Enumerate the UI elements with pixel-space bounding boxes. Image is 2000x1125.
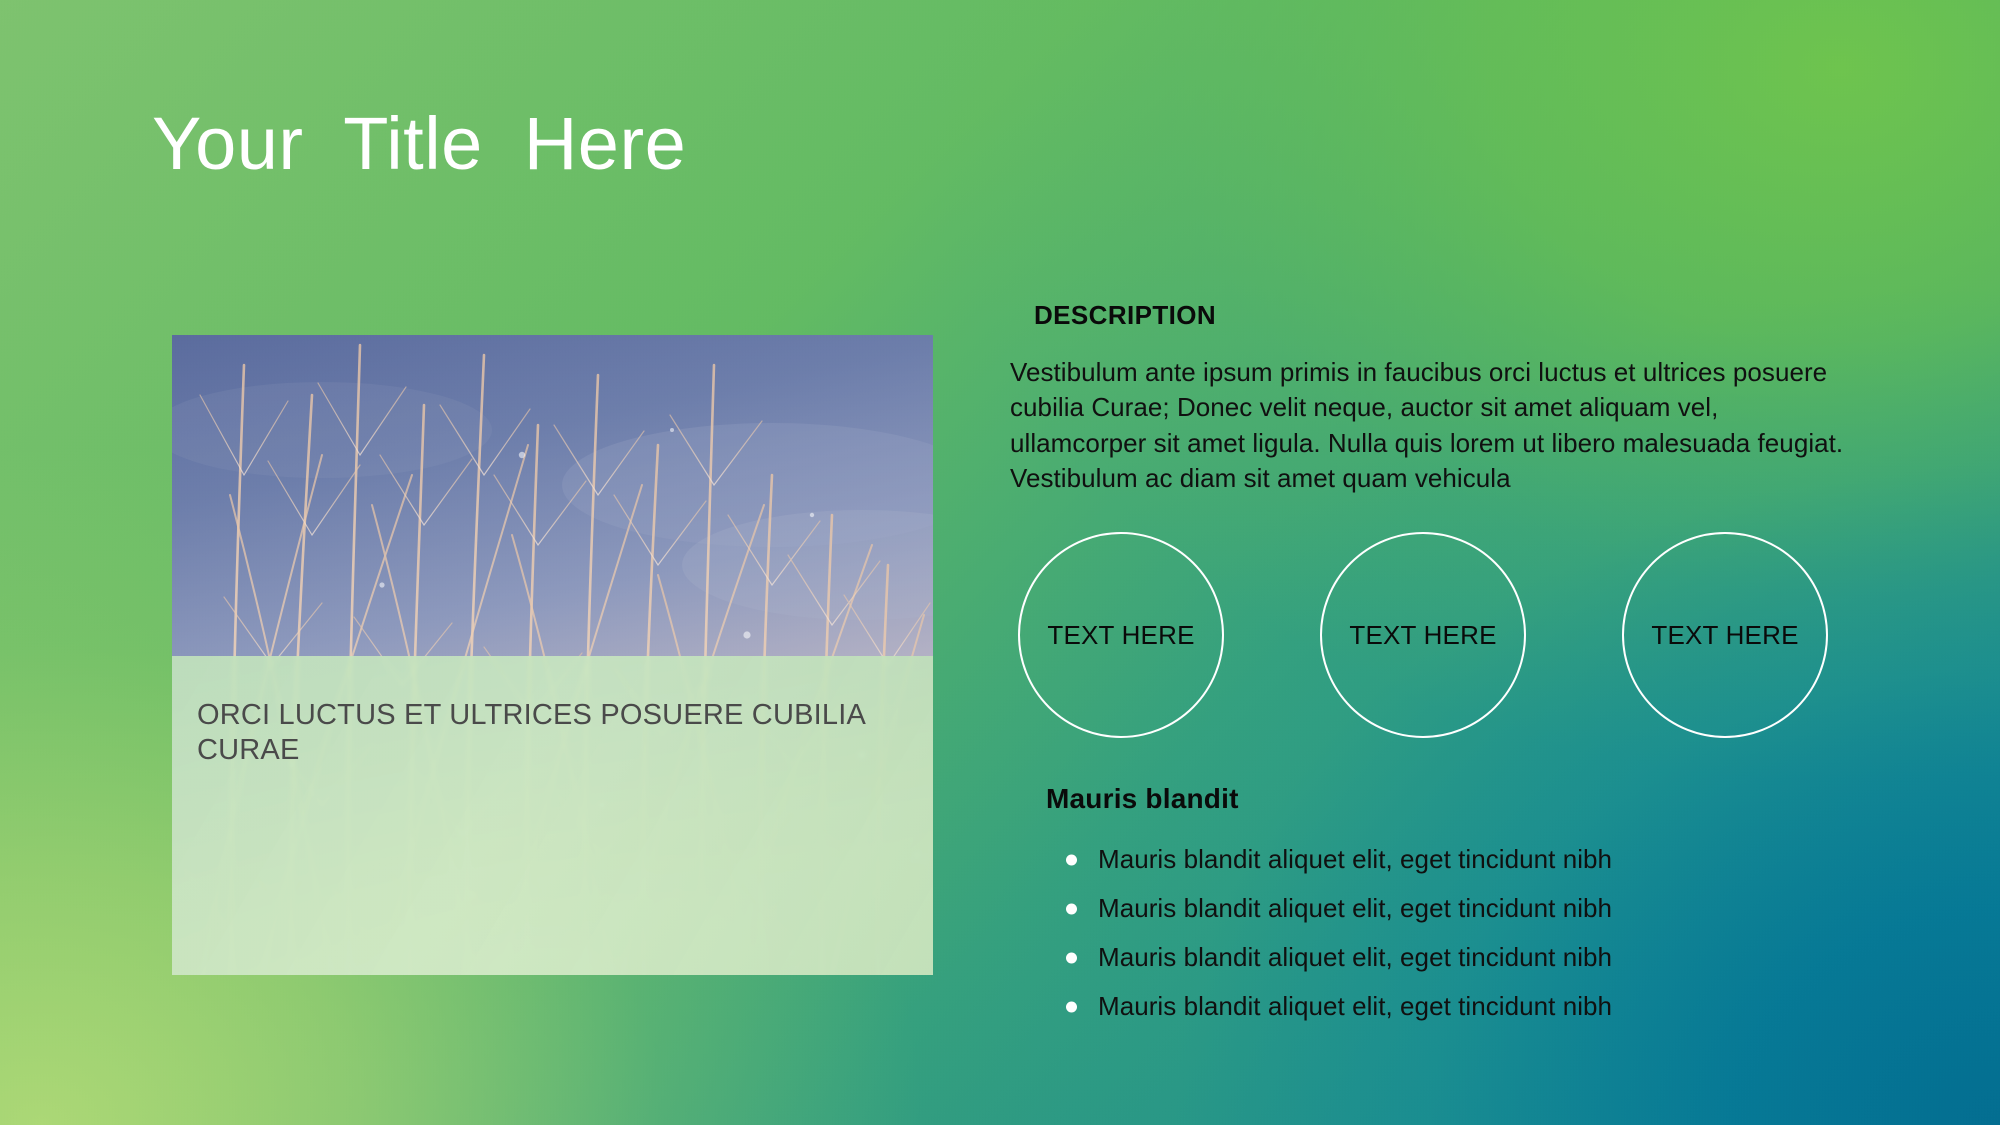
list-item: Mauris blandit aliquet elit, eget tincid…: [1046, 835, 1836, 884]
bullet-dot-icon: [1066, 1001, 1077, 1012]
list-item: Mauris blandit aliquet elit, eget tincid…: [1046, 884, 1836, 933]
list-item: Mauris blandit aliquet elit, eget tincid…: [1046, 982, 1836, 1031]
list-item: Mauris blandit aliquet elit, eget tincid…: [1046, 933, 1836, 982]
bullet-dot-icon: [1066, 854, 1077, 865]
circle-badge-row: TEXT HERE TEXT HERE TEXT HERE: [1018, 532, 1848, 740]
picture-card: ORCI LUCTUS ET ULTRICES POSUERE CUBILIA …: [172, 335, 933, 975]
circle-badge-1-label: TEXT HERE: [1047, 620, 1194, 651]
circle-badge-3[interactable]: TEXT HERE: [1622, 532, 1828, 738]
description-body: Vestibulum ante ipsum primis in faucibus…: [1010, 355, 1850, 496]
list-item-label: Mauris blandit aliquet elit, eget tincid…: [1098, 942, 1612, 973]
bullet-dot-icon: [1066, 903, 1077, 914]
list-item-label: Mauris blandit aliquet elit, eget tincid…: [1098, 844, 1612, 875]
circle-badge-3-label: TEXT HERE: [1651, 620, 1798, 651]
circle-badge-2-label: TEXT HERE: [1349, 620, 1496, 651]
picture-caption-box: ORCI LUCTUS ET ULTRICES POSUERE CUBILIA …: [172, 656, 933, 975]
picture-caption-text: ORCI LUCTUS ET ULTRICES POSUERE CUBILIA …: [197, 698, 897, 769]
list-item-label: Mauris blandit aliquet elit, eget tincid…: [1098, 991, 1612, 1022]
list-item-label: Mauris blandit aliquet elit, eget tincid…: [1098, 893, 1612, 924]
page-title: Your Title Here: [152, 105, 686, 183]
circle-badge-2[interactable]: TEXT HERE: [1320, 532, 1526, 738]
presentation-slide: Your Title Here: [0, 0, 2000, 1125]
bullet-list: Mauris blandit aliquet elit, eget tincid…: [1046, 835, 1836, 1031]
circle-badge-1[interactable]: TEXT HERE: [1018, 532, 1224, 738]
bullet-dot-icon: [1066, 952, 1077, 963]
bullet-list-heading: Mauris blandit: [1046, 783, 1239, 815]
description-heading: DESCRIPTION: [1034, 300, 1216, 331]
